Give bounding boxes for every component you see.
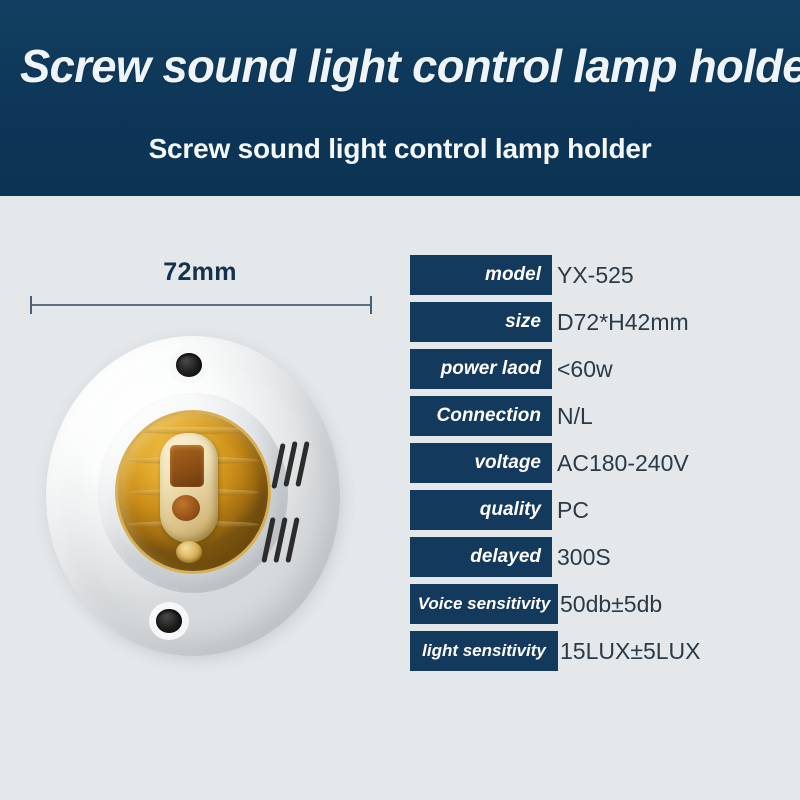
dimension-tick-right bbox=[370, 296, 372, 314]
lamp-holder-photo bbox=[38, 331, 348, 661]
socket-contact-tongue bbox=[160, 433, 218, 543]
spec-row: light sensitivity15LUX±5LUX bbox=[410, 631, 790, 671]
spec-row: modelYX-525 bbox=[410, 255, 790, 295]
spec-label: delayed bbox=[410, 537, 552, 577]
header-banner: Screw sound light control lamp holder Sc… bbox=[0, 0, 800, 196]
specification-table: modelYX-525sizeD72*H42mmpower laod<60wCo… bbox=[410, 255, 790, 678]
spec-row: power laod<60w bbox=[410, 349, 790, 389]
spec-label: light sensitivity bbox=[410, 631, 558, 671]
spec-label: quality bbox=[410, 490, 552, 530]
spec-value: <60w bbox=[557, 349, 613, 389]
spec-value: 15LUX±5LUX bbox=[560, 631, 700, 671]
mounting-screw-hole-top bbox=[176, 353, 202, 377]
spec-row: sizeD72*H42mm bbox=[410, 302, 790, 342]
dimension-line bbox=[30, 304, 372, 306]
spec-label: size bbox=[410, 302, 552, 342]
dimension-measure-bar bbox=[30, 296, 372, 314]
page-subtitle: Screw sound light control lamp holder bbox=[0, 132, 800, 166]
spec-value: D72*H42mm bbox=[557, 302, 689, 342]
spec-value: 50db±5db bbox=[560, 584, 662, 624]
spec-value: PC bbox=[557, 490, 589, 530]
dimension-tick-left bbox=[30, 296, 32, 314]
socket-contact-lower bbox=[172, 495, 200, 521]
socket-contact-upper bbox=[170, 445, 204, 487]
spec-value: N/L bbox=[557, 396, 593, 436]
spec-value: YX-525 bbox=[557, 255, 634, 295]
spec-row: delayed300S bbox=[410, 537, 790, 577]
spec-value: AC180-240V bbox=[557, 443, 689, 483]
product-image-area: 72mm bbox=[0, 196, 400, 800]
spec-row: qualityPC bbox=[410, 490, 790, 530]
spec-label: power laod bbox=[410, 349, 552, 389]
page-title: Screw sound light control lamp holder bbox=[20, 38, 784, 94]
spec-label: Connection bbox=[410, 396, 552, 436]
brass-socket bbox=[118, 413, 268, 571]
spec-label: model bbox=[410, 255, 552, 295]
mounting-screw-hole-bottom bbox=[156, 609, 182, 633]
spec-row: ConnectionN/L bbox=[410, 396, 790, 436]
socket-screw bbox=[176, 541, 202, 563]
spec-label: Voice sensitivity bbox=[410, 584, 558, 624]
spec-value: 300S bbox=[557, 537, 611, 577]
spec-row: Voice sensitivity50db±5db bbox=[410, 584, 790, 624]
spec-label: voltage bbox=[410, 443, 552, 483]
dimension-label: 72mm bbox=[0, 258, 400, 287]
spec-row: voltageAC180-240V bbox=[410, 443, 790, 483]
